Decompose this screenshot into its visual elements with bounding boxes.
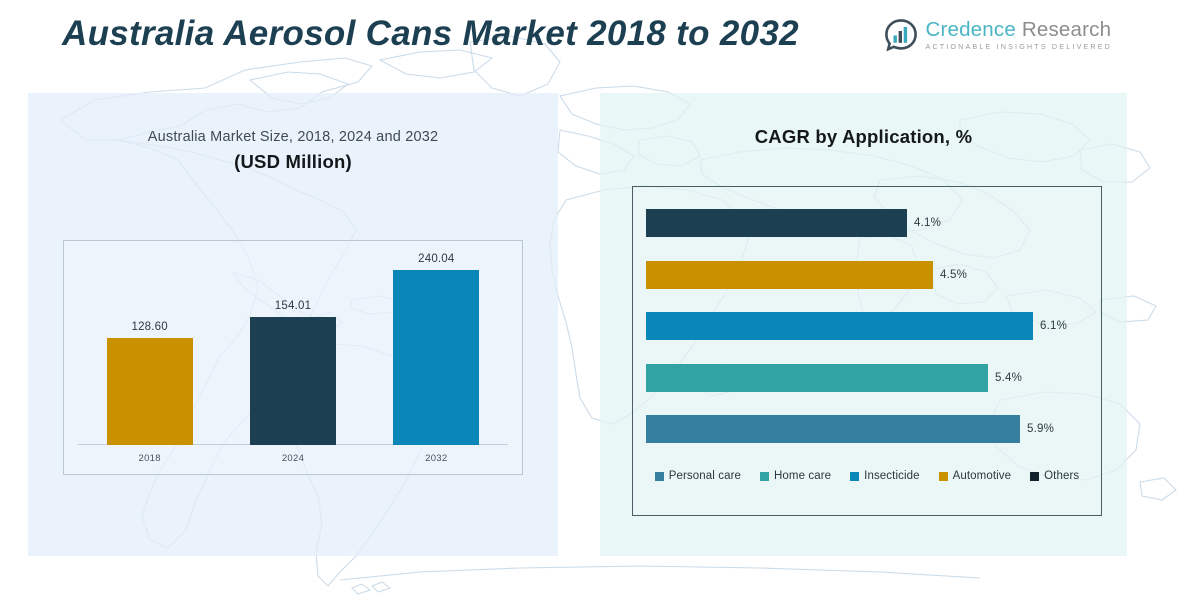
bar-2024[interactable]: [250, 317, 336, 445]
legend-swatch-icon: [655, 472, 664, 481]
cagr-legend: Personal care Home care Insecticide Auto…: [633, 470, 1101, 482]
legend-item-others[interactable]: Others: [1030, 470, 1079, 482]
cagr-value-automotive: 4.5%: [940, 269, 967, 281]
x-tick-2018: 2018: [107, 453, 193, 464]
legend-item-home-care[interactable]: Home care: [760, 470, 831, 482]
cagr-bar-automotive[interactable]: [646, 261, 933, 289]
market-size-title: (USD Million): [28, 151, 558, 173]
legend-item-automotive[interactable]: Automotive: [939, 470, 1012, 482]
legend-swatch-icon: [1030, 472, 1039, 481]
market-size-bars: 128.60 154.01 240.04: [78, 253, 508, 445]
cagr-row-personal-care: 5.9%: [646, 415, 1091, 443]
legend-label-others: Others: [1044, 470, 1079, 482]
legend-item-insecticide[interactable]: Insecticide: [850, 470, 919, 482]
cagr-row-insecticide: 6.1%: [646, 312, 1091, 340]
credence-bar-chart-bubble-icon: [884, 18, 918, 52]
x-tick-2024: 2024: [250, 453, 336, 464]
bar-column-2032: 240.04: [393, 253, 479, 445]
cagr-value-others: 4.1%: [914, 217, 941, 229]
header: Australia Aerosol Cans Market 2018 to 20…: [0, 0, 1200, 88]
cagr-row-home-care: 5.4%: [646, 364, 1091, 392]
logo-name-part2: Research: [1022, 18, 1111, 41]
legend-swatch-icon: [760, 472, 769, 481]
page-title: Australia Aerosol Cans Market 2018 to 20…: [62, 14, 799, 54]
cagr-bar-personal-care[interactable]: [646, 415, 1020, 443]
cagr-row-others: 4.1%: [646, 209, 1091, 237]
cagr-title: CAGR by Application, %: [600, 126, 1127, 148]
bar-value-2018: 128.60: [131, 321, 167, 333]
logo-name: Credence Research: [925, 20, 1112, 41]
infographic-root: Australia Aerosol Cans Market 2018 to 20…: [0, 0, 1200, 595]
market-size-x-axis: 2018 2024 2032: [78, 449, 508, 467]
cagr-value-personal-care: 5.9%: [1027, 423, 1054, 435]
bar-column-2018: 128.60: [107, 253, 193, 445]
bar-column-2024: 154.01: [250, 253, 336, 445]
market-size-panel: Australia Market Size, 2018, 2024 and 20…: [28, 93, 558, 556]
bar-2032[interactable]: [393, 270, 479, 445]
cagr-value-insecticide: 6.1%: [1040, 320, 1067, 332]
legend-label-personal-care: Personal care: [669, 470, 741, 482]
cagr-value-home-care: 5.4%: [995, 372, 1022, 384]
cagr-bar-others[interactable]: [646, 209, 907, 237]
legend-label-automotive: Automotive: [953, 470, 1012, 482]
logo-tagline: Actionable Insights Delivered: [925, 43, 1112, 50]
legend-label-insecticide: Insecticide: [864, 470, 919, 482]
logo-text: Credence Research Actionable Insights De…: [925, 20, 1112, 51]
legend-swatch-icon: [939, 472, 948, 481]
market-size-subtitle: Australia Market Size, 2018, 2024 and 20…: [28, 129, 558, 145]
legend-label-home-care: Home care: [774, 470, 831, 482]
brand-logo[interactable]: Credence Research Actionable Insights De…: [884, 18, 1112, 52]
logo-name-part1: Credence: [925, 18, 1016, 41]
x-tick-2032: 2032: [393, 453, 479, 464]
cagr-panel: CAGR by Application, % 4.1% 4.5% 6.1%: [600, 93, 1127, 556]
cagr-bars: 4.1% 4.5% 6.1% 5.4%: [646, 209, 1091, 443]
legend-swatch-icon: [850, 472, 859, 481]
legend-item-personal-care[interactable]: Personal care: [655, 470, 741, 482]
bar-2018[interactable]: [107, 338, 193, 445]
cagr-bar-home-care[interactable]: [646, 364, 988, 392]
cagr-bar-insecticide[interactable]: [646, 312, 1033, 340]
cagr-row-automotive: 4.5%: [646, 261, 1091, 289]
market-size-plot-area: 128.60 154.01 240.04 2018 2024 20: [63, 240, 523, 475]
bar-value-2024: 154.01: [275, 300, 311, 312]
bar-value-2032: 240.04: [418, 253, 454, 265]
cagr-plot-area: 4.1% 4.5% 6.1% 5.4%: [632, 186, 1102, 516]
